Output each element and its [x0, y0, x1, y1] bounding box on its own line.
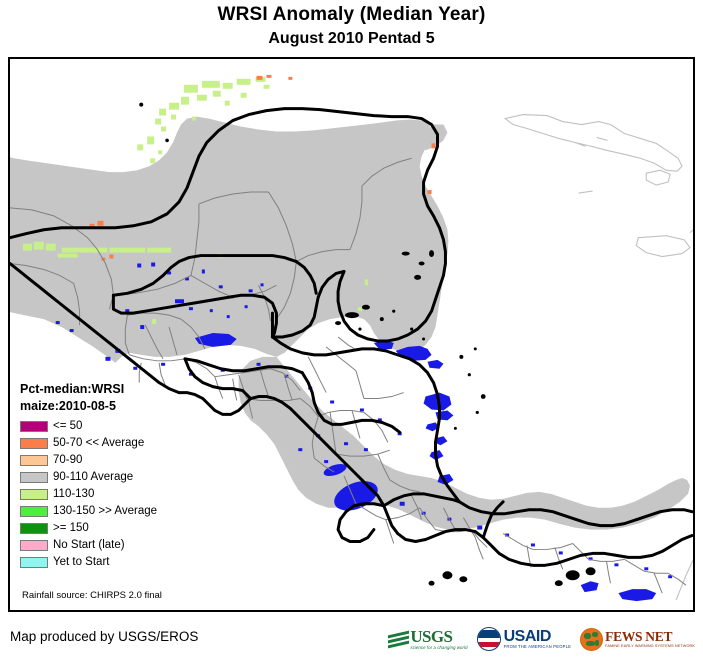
usaid-seal-icon [477, 627, 501, 651]
legend-swatch [20, 489, 48, 500]
usgs-wave-icon [388, 630, 409, 649]
fews-globe-icon [580, 628, 603, 651]
legend-swatch [20, 523, 48, 534]
legend-row: 70-90 [20, 452, 220, 469]
legend-swatch [20, 506, 48, 517]
usaid-wordmark: USAID [504, 629, 572, 644]
fews-net-wordmark: FEWS NET [605, 630, 695, 644]
legend-row: <= 50 [20, 418, 220, 435]
legend-label: No Start (late) [53, 539, 125, 552]
usgs-logo[interactable]: USGS science for a changing world [388, 626, 467, 652]
legend-label: Yet to Start [53, 556, 109, 569]
page-title: WRSI Anomaly (Median Year) [0, 4, 703, 26]
legend-row: >= 150 [20, 520, 220, 537]
usgs-tagline: science for a changing world [410, 645, 467, 650]
map-frame[interactable]: Pct-median:WRSI maize:2010-08-5 <= 5050-… [8, 57, 695, 612]
logo-strip: USGS science for a changing world USAID … [388, 626, 695, 652]
legend-row: 130-150 >> Average [20, 503, 220, 520]
legend-swatch [20, 455, 48, 466]
title-block: WRSI Anomaly (Median Year) August 2010 P… [0, 0, 703, 48]
legend-row: No Start (late) [20, 537, 220, 554]
legend-row: 110-130 [20, 486, 220, 503]
legend-label: 90-110 Average [53, 471, 133, 484]
legend-swatch [20, 472, 48, 483]
legend-header-line2: maize:2010-08-5 [20, 398, 220, 415]
rainfall-source-note: Rainfall source: CHIRPS 2.0 final [22, 590, 162, 602]
usaid-logo[interactable]: USAID FROM THE AMERICAN PEOPLE [477, 626, 572, 652]
legend-label: >= 150 [53, 522, 89, 535]
legend-rows: <= 5050-70 << Average70-9090-110 Average… [20, 418, 220, 571]
legend-label: 130-150 >> Average [53, 505, 157, 518]
legend-header-line1: Pct-median:WRSI [20, 381, 220, 398]
legend-row: 90-110 Average [20, 469, 220, 486]
legend-label: 70-90 [53, 454, 82, 467]
usaid-tagline: FROM THE AMERICAN PEOPLE [504, 644, 572, 649]
fews-net-tagline: FAMINE EARLY WARNING SYSTEMS NETWORK [605, 644, 695, 649]
legend-row: Yet to Start [20, 554, 220, 571]
usgs-wordmark: USGS [410, 629, 467, 645]
legend-swatch [20, 421, 48, 432]
legend-row: 50-70 << Average [20, 435, 220, 452]
legend-label: 50-70 << Average [53, 437, 144, 450]
legend-label: <= 50 [53, 420, 82, 433]
page-subtitle: August 2010 Pentad 5 [0, 29, 703, 48]
legend-swatch [20, 540, 48, 551]
legend-swatch [20, 557, 48, 568]
fews-net-logo[interactable]: FEWS NET FAMINE EARLY WARNING SYSTEMS NE… [580, 626, 695, 652]
legend-swatch [20, 438, 48, 449]
map-credit: Map produced by USGS/EROS [10, 629, 198, 645]
footer: Map produced by USGS/EROS USGS science f… [0, 612, 703, 662]
map-legend: Pct-median:WRSI maize:2010-08-5 <= 5050-… [20, 381, 220, 571]
legend-label: 110-130 [53, 488, 94, 501]
